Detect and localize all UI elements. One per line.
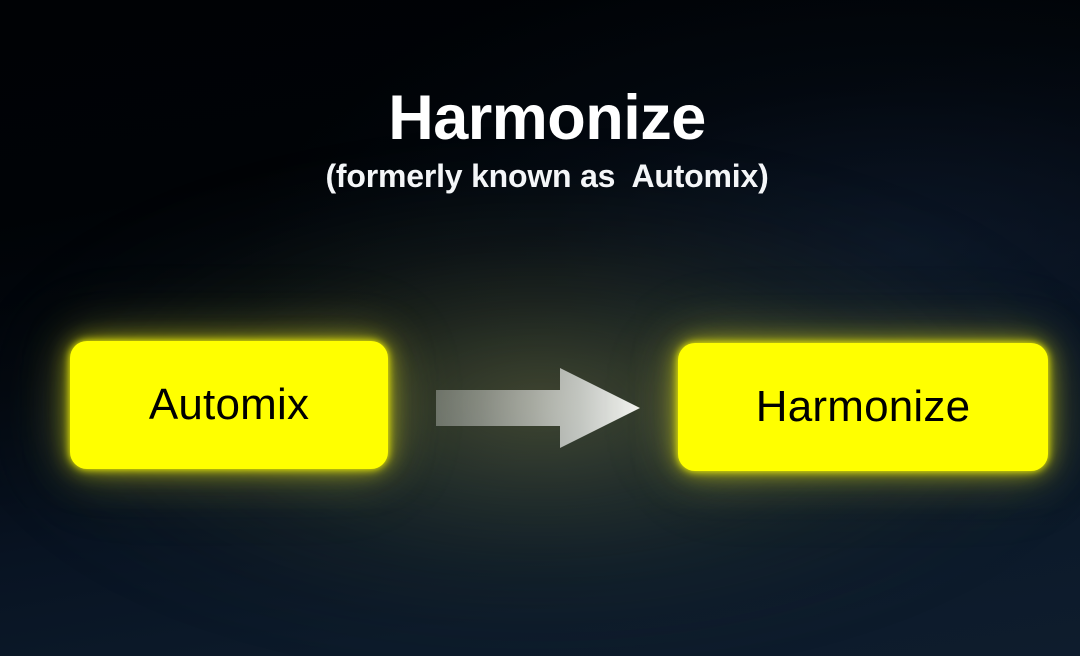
transition-arrow bbox=[436, 362, 644, 454]
new-name-label: Harmonize bbox=[756, 382, 971, 432]
page-subtitle: (formerly known as Automix) bbox=[14, 158, 1080, 195]
page-title: Harmonize bbox=[14, 86, 1080, 150]
new-name-pill[interactable]: Harmonize bbox=[678, 343, 1048, 471]
arrow-right-icon bbox=[436, 362, 644, 454]
heading-block: Harmonize (formerly known as Automix) bbox=[0, 86, 1080, 195]
old-name-pill[interactable]: Automix bbox=[70, 341, 388, 469]
slide-canvas: Harmonize (formerly known as Automix) Au… bbox=[0, 0, 1080, 656]
old-name-label: Automix bbox=[149, 380, 309, 430]
